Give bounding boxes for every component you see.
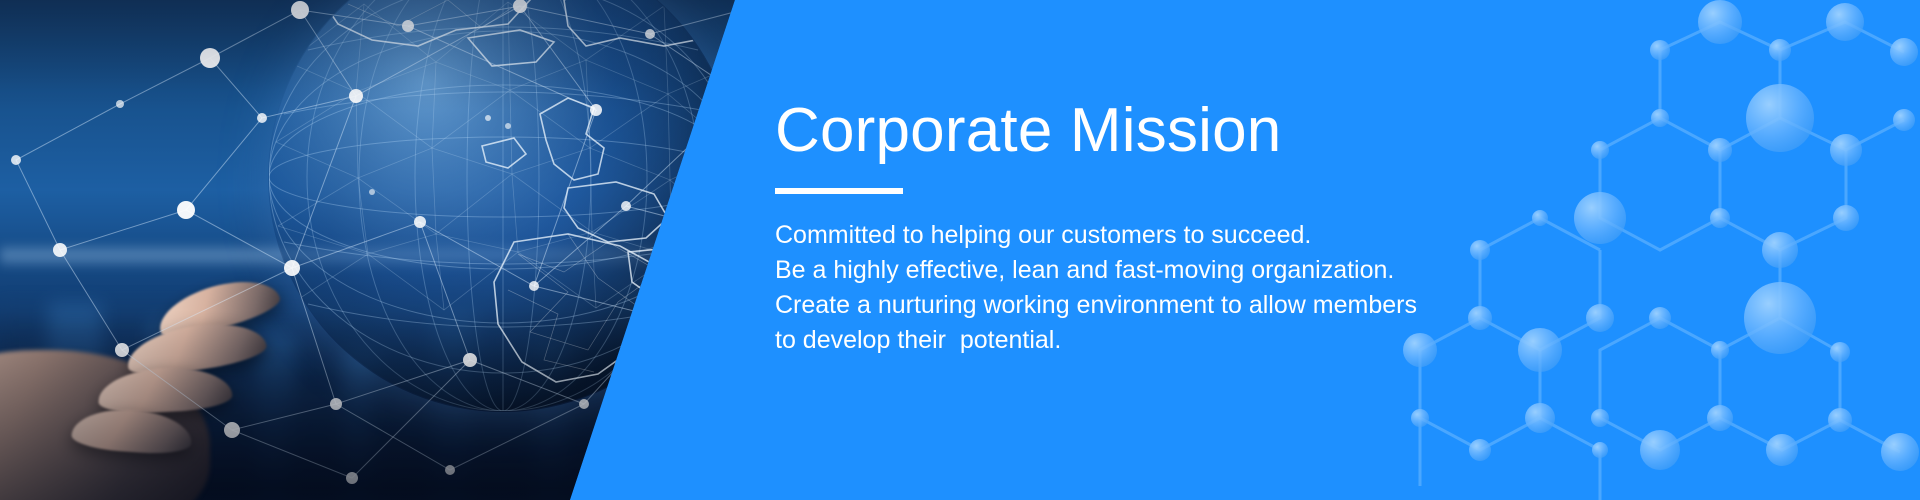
title-divider xyxy=(775,188,903,194)
mission-line-2: Be a highly effective, lean and fast-mov… xyxy=(775,253,1775,288)
mission-line-3: Create a nurturing working environment t… xyxy=(775,288,1775,323)
mission-statement: Committed to helping our customers to su… xyxy=(775,218,1775,358)
mission-line-4: to develop their potential. xyxy=(775,323,1775,358)
corporate-mission-banner: Corporate Mission Committed to helping o… xyxy=(0,0,1920,500)
mission-line-1: Committed to helping our customers to su… xyxy=(775,218,1775,253)
page-title: Corporate Mission xyxy=(775,96,1775,166)
mission-content: Corporate Mission Committed to helping o… xyxy=(775,96,1775,358)
